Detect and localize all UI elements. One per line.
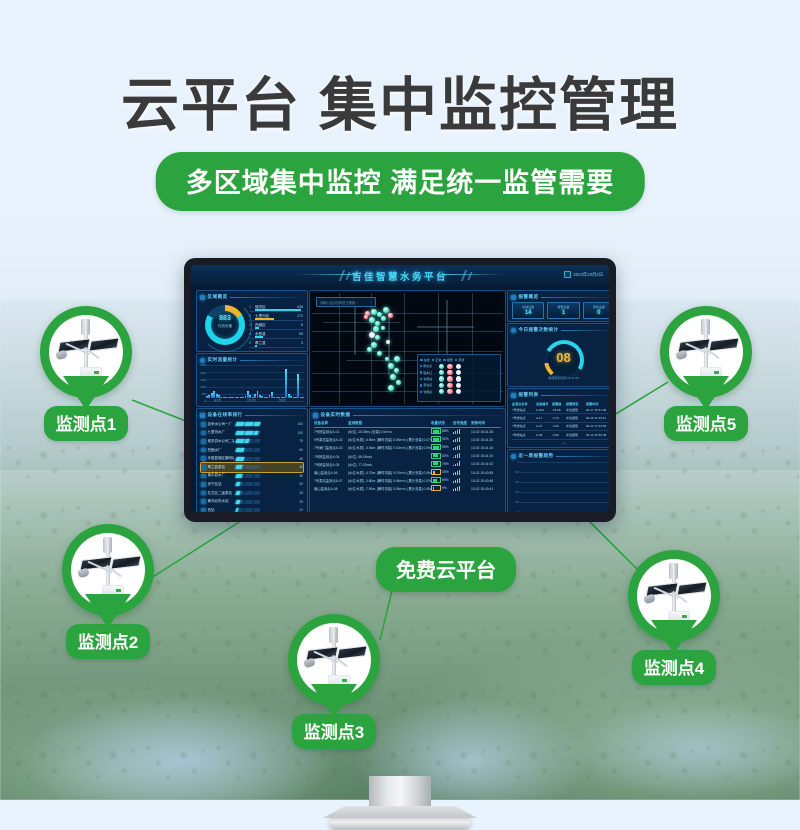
table-row[interactable]: 7号泵站监测点A-07[水位/水质] -3.80m; [瞬时流量] 0.06m³… [314,477,501,485]
map-marker[interactable] [377,351,382,356]
update-time: 10-02 15:41:02 [471,462,501,466]
column-header: 信号强度 [453,421,471,426]
pin-image [637,559,711,633]
monitor-screen: 吉佳智慧水务平台 2024年10月2日 区域概览 883 在线设备 1城关区43… [191,265,609,512]
panel-icon [200,358,205,363]
panel-icon [511,295,516,300]
legend-label: 泵站点 [420,383,436,387]
y-tick: 1500 [198,379,206,382]
panel-title: 设备在线率排行 [208,412,243,418]
panel-header: 设备实时数据 [313,412,502,419]
table-row[interactable]: 7号闸门监测点A-03[水位/水质] -3.06m; [瞬时流量] 0.10m³… [314,444,501,452]
table-header-row: 监测点名称设备编号报警值报警类型报警时间 [512,400,609,406]
panel-region-overview: 区域概览 883 在线设备 1城关区4352七里河区1723西固区64永登县59… [196,290,308,352]
legend-dot-alarm [447,370,452,375]
battery-status: 69% [431,477,453,484]
header-rule [541,297,609,298]
list-item[interactable]: 城关供水公司二站75 [201,437,303,446]
column-header: 报警值 [552,401,566,406]
search-input[interactable]: 请输入站点名称进行搜索... [320,300,360,305]
legend-dot-offline [456,383,461,388]
table-row[interactable]: 9号泵站监测点A-02[水位/水质] -5.90m; [瞬时流量] 0.05m³… [314,436,501,444]
panel-alarm-trend: 近一周报警趋势 10.80.60.40.202024-09-282024-09-… [507,449,609,512]
legend-label: 取水口 [420,371,436,375]
signal-strength [453,470,471,476]
item-value: 40 [295,465,303,469]
y-tick: 1 [511,461,519,464]
device-data: [水位/水质] -3.80m; [瞬时流量] 0.06m³/s; [累计流量] … [348,478,431,483]
alarm-value: -4.06 [552,424,566,428]
device-name: 7号闸门监测点A-03 [314,445,348,450]
signal-strength [453,445,471,451]
rank-value: 172 [297,314,303,318]
device-name: 7号桥监测点A-04 [314,454,348,459]
item-value: 45 [295,457,303,461]
column-header: 监测数据 [348,421,431,426]
column-header: 监测点名称 [512,401,536,406]
panel-header: 报警列表 [511,392,609,399]
legend-dot-alarm [447,364,452,369]
legend-dot-offline [456,376,461,381]
rank-index: 1 [249,305,253,309]
item-value: 60 [295,448,303,452]
monitoring-point-pin-1[interactable]: 监测点1 [40,306,132,441]
pagination[interactable]: ‹ 1 › [508,441,609,445]
signal-strength [453,461,471,467]
monitoring-station-icon [669,315,743,389]
dashboard: 吉佳智慧水务平台 2024年10月2日 区域概览 883 在线设备 1城关区43… [191,265,609,512]
stat-value: 0 [597,310,600,316]
monitoring-point-pin-5[interactable]: 监测点5 [660,306,752,441]
panel-device-table: 设备实时数据 设备名称监测数据电量状态信号强度更新时间 7号桥监测点A-01[水… [309,408,506,512]
map-marker[interactable] [394,356,400,362]
table-row[interactable]: 7号桥站点A-36-5.90水位报警09-10 15:55:08 [512,431,609,439]
donut-value: 883 [205,315,245,322]
pin-label: 监测点2 [66,624,150,659]
map-road [446,300,448,358]
dashboard-date: 2024年10月2日 [564,271,603,278]
item-icon [201,499,206,504]
panel-header: 报警概览 [511,294,609,301]
legend-dot-alarm [447,376,452,381]
table-body[interactable]: 7号桥站点A-004-15.08水位报警09-17 15:41:287号桥站点A… [512,406,609,440]
map-search-box[interactable]: 请输入站点名称进行搜索... ⌕ [316,297,376,307]
rank-value: 3 [301,341,303,345]
table-row[interactable]: 7号桥监测点A-01[水位] -15.08m; [流量] 0.0m³/s88%1… [314,428,501,436]
pin-label: 监测点5 [664,406,748,441]
monitoring-station-icon [297,623,371,697]
legend-dot-online [439,389,444,394]
alarm-device: A-27 [536,424,552,428]
device-data: [水位] -55.08m/s [348,454,431,459]
legend-dot-offline [456,364,461,369]
alarm-site: 7号桥站点 [512,433,536,437]
alarm-device: A-004 [536,408,552,412]
item-icon [201,422,206,427]
pin-label: 监测点4 [632,650,716,685]
pin-image [669,315,743,389]
legend-column: 正常 [432,358,442,362]
panel-title: 实时流量统计 [208,357,238,363]
item-value: 36 [295,474,303,478]
item-icon [201,474,206,479]
legend-dot-online [439,370,444,375]
item-bar [236,474,294,478]
device-name: 7号桥监测点A-01 [314,429,348,434]
stat-card[interactable]: 在线设备14 [512,302,544,319]
update-time: 10-02 15:41:20 [471,438,501,442]
panel-header: 区域概览 [200,294,304,301]
item-name: 安宁区站 [208,482,234,487]
panel-header: 实时流量统计 [200,357,304,364]
pin-image [49,315,123,389]
item-bar [236,482,294,486]
device-name: 7号泵站监测点A-07 [314,478,348,483]
battery-status: 9% [431,485,453,492]
y-tick: 0.4 [511,491,519,494]
item-name: 红古区二级泵站 [208,491,234,496]
device-data: [水位] -77.00m/s [348,462,431,467]
device-name: 南山监测点A-06 [314,470,348,475]
alarm-time: 09-15 11:06:31 [586,416,609,420]
device-data: [水位/水质] -5.90m; [瞬时流量] 0.05m³/s; [累计流量] … [348,437,431,442]
item-name: 皋兰县泵站 [208,465,234,470]
alarm-site: 7号桥站点 [512,424,536,428]
pin-head [628,550,720,642]
column-header: 电量状态 [431,421,453,426]
panel-alarm-list: 报警列表 监测点名称设备编号报警值报警类型报警时间 7号桥站点A-004-15.… [507,388,609,448]
item-icon [201,439,206,444]
item-name: 永登县城区管网站 [208,456,234,461]
alarm-value: -3.70 [552,416,566,420]
rank-bar [255,345,257,346]
pin-label: 监测点1 [44,406,128,441]
alarm-time: 09-12 17:33:56 [586,424,609,428]
rank-index: 5 [249,341,253,345]
map-marker[interactable] [375,321,380,326]
region-ranking-list[interactable]: 1城关区4352七里河区1723西固区64永登县595皋兰县3 [249,303,303,348]
alarm-time: 09-10 15:55:08 [586,433,609,437]
pin-image [297,623,371,697]
item-value: 100 [295,422,303,426]
ranking-row[interactable]: 5皋兰县3 [249,339,303,348]
rank-name: 西固区 [255,323,299,328]
signal-strength [453,429,471,435]
map-road [312,313,503,314]
rank-index: 3 [249,323,253,327]
alarm-device: A-36 [536,433,552,437]
legend-label: 供水点 [420,364,436,368]
alarm-value: -15.08 [552,408,566,412]
panel-icon [511,393,516,398]
legend-dot-online [439,383,444,388]
item-name: 西站 [208,508,234,512]
device-name: 7号桥监测点A-05 [314,462,348,467]
y-tick: 0 [511,511,519,512]
alarm-type: 水位报警 [566,424,586,428]
x-tick: 西固区 [279,398,287,402]
map-marker[interactable] [388,313,393,318]
column-header: 设备名称 [314,421,348,426]
monitoring-station-icon [71,533,145,607]
item-name: 黄河北供水站 [208,499,234,504]
list-item[interactable]: 自来水公司一厂100 [201,420,303,429]
rank-bar [255,318,274,319]
panel-title: 设备实时数据 [321,412,351,418]
header-rule [561,330,609,331]
item-bar [236,439,294,443]
gauge-value: 08 [556,351,570,364]
rank-index: 4 [249,332,253,336]
item-bar [236,431,294,435]
panel-header: 设备在线率排行 [200,412,304,419]
legend-dot-online [439,364,444,369]
legend-dot-alarm [447,389,452,394]
list-item[interactable]: 黄河北供水站25 [201,497,303,506]
item-value: 25 [295,500,303,504]
update-time: 10-02 15:41:10 [471,454,501,458]
panel-icon [200,413,205,418]
item-icon [201,482,206,487]
update-time: 10-02 15:40:41 [471,487,501,491]
battery-status: 88% [431,428,453,435]
list-item[interactable]: 皋兰县泵站40 [201,463,303,472]
header-rule [556,456,609,457]
table-row[interactable]: 南山监测点A-06[水位/水质] -4.70m; [瞬时流量] 0.07m³/s… [314,468,501,476]
list-item[interactable]: 榆中县水厂36 [201,472,303,481]
date-text: 2024年10月2日 [573,272,603,278]
item-bar [236,465,294,469]
signal-strength [453,437,471,443]
map-marker[interactable] [381,326,385,330]
table-row[interactable]: 7号桥站点A-004-15.08水位报警09-17 15:41:28 [512,406,609,414]
ranking-row[interactable]: 4永登县59 [249,330,303,339]
map-marker[interactable] [371,342,377,348]
header-rule [353,415,502,416]
alarm-value: -5.90 [552,433,566,437]
item-icon [201,508,206,512]
panel-header: 今日报警次数统计 [511,327,609,334]
device-table: 设备名称监测数据电量状态信号强度更新时间 7号桥监测点A-01[水位] -15.… [314,420,501,493]
x-tick: 城关区 [214,398,222,402]
alarm-type: 水位报警 [566,408,586,412]
flow-bar-chart: 25002000150010005000城关区七里河区西固区 [206,365,304,401]
ranking-row[interactable]: 3西固区6 [249,321,303,330]
pin-image [71,533,145,607]
alarm-device: A-17 [536,416,552,420]
item-bar [236,448,294,452]
calendar-icon [564,271,571,278]
column-header: 报警类型 [566,401,586,406]
table-row[interactable]: 7号桥站点A-27-4.06水位报警09-12 17:33:56 [512,423,609,431]
rank-bar [255,309,301,310]
item-icon [201,465,206,470]
item-icon [201,491,206,496]
pin-label: 监测点3 [292,714,376,749]
monitoring-station-icon [637,559,711,633]
column-header: 更新时间 [471,421,501,426]
pin-head [40,306,132,398]
stat-value: 14 [525,310,532,316]
stat-card[interactable]: 报警设备1 [547,302,579,319]
item-value: 100 [295,431,303,435]
map-legend: 在线正常报警离线 供水点取水口水质站泵站点管网点 [417,354,501,402]
item-name: 城关供水公司二站 [208,439,234,444]
rank-bar [255,336,263,337]
item-value: 75 [295,439,303,443]
alarm-site: 7号桥站点 [512,416,536,420]
pin-head [288,614,380,706]
device-data: [水位/水质] -4.70m; [瞬时流量] 0.07m³/s; [累计流量] … [348,470,431,475]
device-name: 南山监测点A-08 [314,486,348,491]
free-platform-badge: 免费云平台 [376,547,516,592]
map-marker[interactable] [375,335,380,340]
rank-name: 皋兰县 [255,341,299,346]
item-bar [236,457,294,461]
panel-icon [511,328,516,333]
donut-label: 在线设备 [205,324,245,329]
panel-alarm-overview: 报警概览 在线设备14报警设备1离线设备0 [507,290,609,322]
list-item[interactable]: 永登县城区管网站45 [201,454,303,463]
pin-head [660,306,752,398]
header-rule [230,297,304,298]
table-row[interactable]: 7号桥监测点A-04[水位] -55.08m/s80%10-02 15:41:1… [314,452,501,460]
item-bar [236,500,294,504]
list-item[interactable]: 西站22 [201,506,303,512]
map-marker[interactable] [390,374,396,380]
alarm-table: 监测点名称设备编号报警值报警类型报警时间 7号桥站点A-004-15.08水位报… [512,400,609,440]
subtitle-badge: 多区域集中监控 满足统一监管需要 [156,152,645,211]
stat-cards: 在线设备14报警设备1离线设备0 [512,302,609,319]
alarm-type: 水位报警 [566,416,586,420]
item-icon [201,431,206,436]
map-road [339,293,340,404]
map-marker[interactable] [381,316,386,321]
stat-value: 1 [562,310,565,316]
battery-status: 95% [431,444,453,451]
update-time: 10-02 15:41:16 [471,446,501,450]
ranking-row[interactable]: 2七里河区172 [249,312,303,321]
stat-label: 报警设备 [557,305,569,309]
legend-dot-offline [456,389,461,394]
legend-label: 水质站 [420,377,436,381]
panel-online-rate-ranking: 设备在线率排行 自来水公司一厂100七里河水厂100城关供水公司二站75西固水厂… [196,408,308,512]
list-item[interactable]: 红古区二级泵站28 [201,489,303,498]
table-body[interactable]: 7号桥监测点A-01[水位] -15.08m; [流量] 0.0m³/s88%1… [314,428,501,494]
device-data: [水位] -15.08m; [流量] 0.0m³/s [348,429,431,434]
dashboard-title: 吉佳智慧水务平台 [191,269,609,283]
update-time: 10-02 15:41:28 [471,430,501,434]
item-name: 西固水厂 [208,448,234,453]
map-marker[interactable] [388,363,394,369]
map-marker[interactable] [364,315,368,319]
monitoring-point-pin-2[interactable]: 监测点2 [62,524,154,659]
ranking-row[interactable]: 1城关区435 [249,303,303,312]
list-item[interactable]: 七里河水厂100 [201,429,303,438]
item-bar [236,508,294,512]
signal-strength [453,478,471,484]
map-road [404,293,405,404]
item-name: 自来水公司一厂 [208,422,234,427]
battery-status: 76% [431,461,453,468]
stat-card[interactable]: 离线设备0 [583,302,609,319]
panel-title: 今日报警次数统计 [519,327,559,333]
device-data: [水位/水质] -7.90m; [瞬时流量] 0.05m³/s; [累计流量] … [348,486,431,491]
monitor-stand-base [330,816,470,830]
rank-value: 6 [301,323,303,327]
search-icon[interactable]: ⌕ [370,300,372,304]
signal-strength [453,486,471,492]
monitoring-station-icon [49,315,123,389]
panel-icon [200,295,205,300]
map-marker[interactable] [373,326,379,332]
battery-status: 33% [431,469,453,476]
map-marker[interactable] [396,380,401,385]
online-rank-list[interactable]: 自来水公司一厂100七里河水厂100城关供水公司二站75西固水厂60永登县城区管… [201,420,303,512]
y-tick: 1000 [198,386,206,389]
legend-dot-offline [456,370,461,375]
table-row[interactable]: 7号桥站点A-17-3.70水位报警09-15 11:06:31 [512,414,609,422]
panel-icon [511,454,516,459]
item-icon [201,448,206,453]
update-time: 10-02 15:40:48 [471,479,501,483]
y-tick: 0 [198,400,206,403]
gauge-caption: 数据更新时间 15:41:28 [508,376,609,380]
monitoring-point-pin-4[interactable]: 监测点4 [628,550,720,685]
column-header: 报警时间 [586,401,609,406]
battery-status: 92% [431,436,453,443]
panel-title: 近一周报警趋势 [519,453,554,459]
stat-label: 离线设备 [593,305,605,309]
item-bar [236,422,294,426]
item-value: 28 [295,491,303,495]
y-tick: 2000 [198,372,206,375]
battery-status: 80% [431,453,453,460]
item-value: 30 [295,482,303,486]
panel-flow-statistics: 实时流量统计 25002000150010005000城关区七里河区西固区 [196,353,308,407]
legend-column: 离线 [455,358,465,362]
map-road [312,351,503,352]
table-row[interactable]: 7号桥监测点A-05[水位] -77.00m/s76%10-02 15:41:0… [314,460,501,468]
header-rule [245,415,304,416]
device-name: 9号泵站监测点A-02 [314,437,348,442]
y-tick: 500 [198,393,206,396]
rank-value: 59 [299,332,303,336]
legend-dot-alarm [447,383,452,388]
y-tick: 0.6 [511,481,519,484]
list-item[interactable]: 西固水厂60 [201,446,303,455]
panel-alarm-count: 今日报警次数统计 08 数据更新时间 15:41:28 [507,323,609,387]
legend-column: 在线 [420,358,430,362]
item-name: 七里河水厂 [208,430,234,435]
y-tick: 2500 [198,364,206,367]
y-tick: 0.8 [511,471,519,474]
item-icon [201,456,206,461]
list-item[interactable]: 安宁区站30 [201,480,303,489]
monitoring-point-pin-3[interactable]: 监测点3 [288,614,380,749]
header-rule [240,360,304,361]
signal-strength [453,453,471,459]
update-time: 10-02 15:40:55 [471,471,501,475]
item-bar [236,491,294,495]
table-row[interactable]: 南山监测点A-08[水位/水质] -7.90m; [瞬时流量] 0.05m³/s… [314,485,501,493]
rank-bar [255,327,259,328]
table-header-row: 设备名称监测数据电量状态信号强度更新时间 [314,420,501,428]
legend-label: 管网点 [420,390,436,394]
bars [206,367,304,398]
legend-dot-online [439,376,444,381]
panel-map[interactable]: 请输入站点名称进行搜索... ⌕ 在线正常报警离线 供水点取水口水质站泵站点管网… [309,290,506,407]
